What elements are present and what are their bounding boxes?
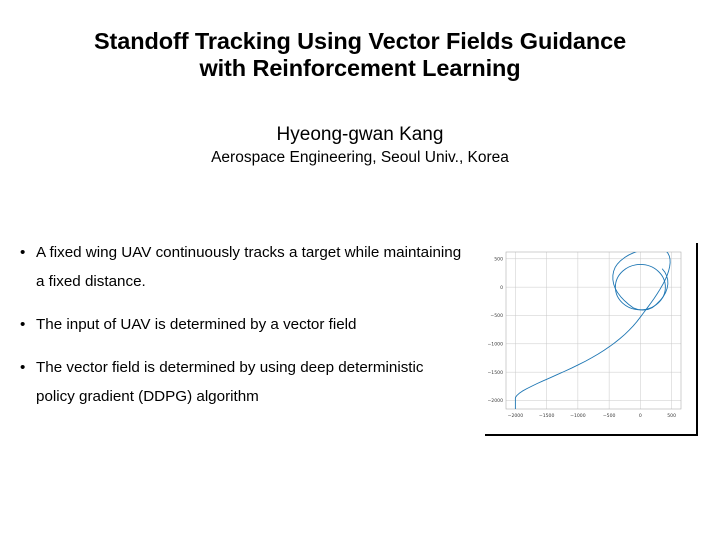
y-tick-label: −1000 (487, 342, 503, 348)
author-block: Hyeong-gwan Kang Aerospace Engineering, … (30, 122, 690, 168)
bullet-marker-icon: • (20, 353, 25, 382)
figure-border-right (696, 243, 698, 436)
y-tick-label: −1500 (487, 370, 503, 376)
x-tick-label: −1000 (570, 413, 586, 419)
x-tick-label: −2000 (508, 413, 524, 419)
y-tick-label: −500 (490, 313, 503, 319)
author-name: Hyeong-gwan Kang (30, 122, 690, 147)
list-item: • A fixed wing UAV continuously tracks a… (16, 238, 466, 296)
author-affiliation: Aerospace Engineering, Seoul Univ., Kore… (30, 147, 690, 168)
title-line-1: Standoff Tracking Using Vector Fields Gu… (30, 28, 690, 55)
slide-title: Standoff Tracking Using Vector Fields Gu… (30, 28, 690, 82)
bullet-list: • A fixed wing UAV continuously tracks a… (16, 238, 466, 411)
list-item: • The vector field is determined by usin… (16, 353, 466, 411)
bullet-text: A fixed wing UAV continuously tracks a t… (36, 238, 466, 296)
slide-canvas: Standoff Tracking Using Vector Fields Gu… (0, 0, 720, 540)
bullet-text: The vector field is determined by using … (36, 353, 466, 411)
bullet-marker-icon: • (20, 238, 25, 267)
trajectory-figure: −2000−1500−1000−5000500−2000−1500−1000−5… (472, 240, 698, 436)
x-tick-label: −1500 (539, 413, 555, 419)
bullet-marker-icon: • (20, 310, 25, 339)
title-line-2: with Reinforcement Learning (30, 55, 690, 82)
trajectory-chart-svg: −2000−1500−1000−5000500−2000−1500−1000−5… (474, 242, 687, 431)
trajectory-plot: −2000−1500−1000−5000500−2000−1500−1000−5… (474, 242, 687, 431)
x-tick-label: 0 (639, 413, 642, 419)
figure-border-bottom (485, 434, 698, 436)
y-tick-label: 500 (494, 257, 503, 263)
x-tick-label: −500 (603, 413, 616, 419)
y-tick-label: −2000 (487, 398, 503, 404)
x-tick-label: 500 (667, 413, 676, 419)
bullet-text: The input of UAV is determined by a vect… (36, 310, 466, 339)
list-item: • The input of UAV is determined by a ve… (16, 310, 466, 339)
y-tick-label: 0 (500, 285, 503, 291)
